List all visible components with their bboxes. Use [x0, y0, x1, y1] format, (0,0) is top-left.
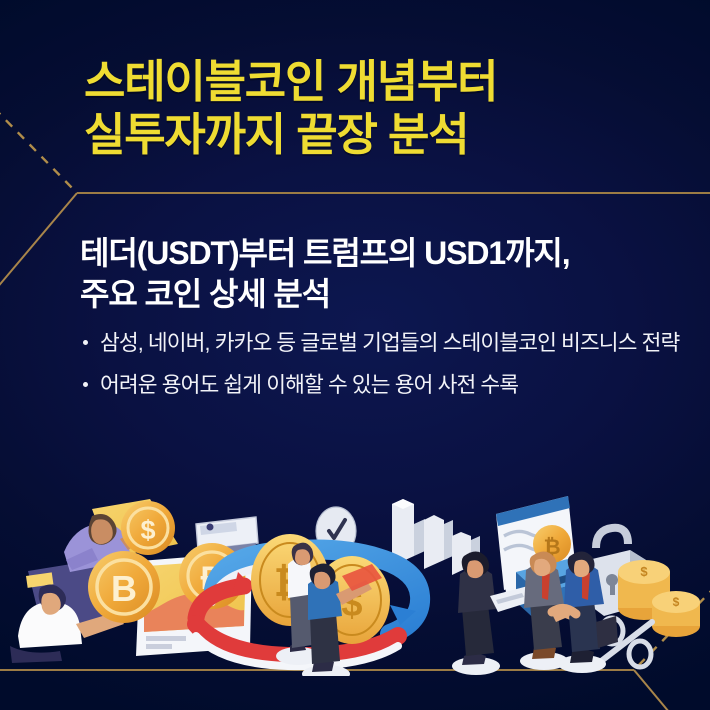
coin-stack-short: $	[652, 591, 700, 637]
feature-bullet-list: 삼성, 네이버, 카카오 등 글로벌 기업들의 스테이블코인 비즈니스 전략 어…	[82, 328, 682, 411]
page-subtitle: 테더(USDT)부터 트럼프의 USD1까지, 주요 코인 상세 분석	[80, 233, 700, 316]
solid-line-top-left	[0, 193, 77, 289]
svg-text:B: B	[111, 568, 137, 609]
coin-dollar-left: $	[121, 501, 175, 555]
illustration-band: $ B Ð	[0, 476, 710, 676]
svg-text:$: $	[640, 564, 648, 579]
list-item: 삼성, 네이버, 카카오 등 글로벌 기업들의 스테이블코인 비즈니스 전략	[82, 328, 682, 359]
svg-text:$: $	[673, 595, 680, 609]
solid-line-bottom-right	[634, 670, 710, 710]
page-title: 스테이블코인 개념부터 실투자까지 끝장 분석	[84, 56, 684, 161]
card-news-slide: 스테이블코인 개념부터 실투자까지 끝장 분석 테더(USDT)부터 트럼프의 …	[0, 0, 710, 710]
list-item: 어려운 용어도 쉽게 이해할 수 있는 용어 사전 수록	[82, 370, 682, 401]
dashed-line-top-left	[0, 108, 77, 193]
right-scene-handshake-security: ₿	[490, 496, 700, 673]
illustration-svg: $ B Ð	[0, 476, 710, 676]
coin-bitcoin-left: B	[88, 551, 160, 623]
svg-text:$: $	[140, 515, 155, 545]
